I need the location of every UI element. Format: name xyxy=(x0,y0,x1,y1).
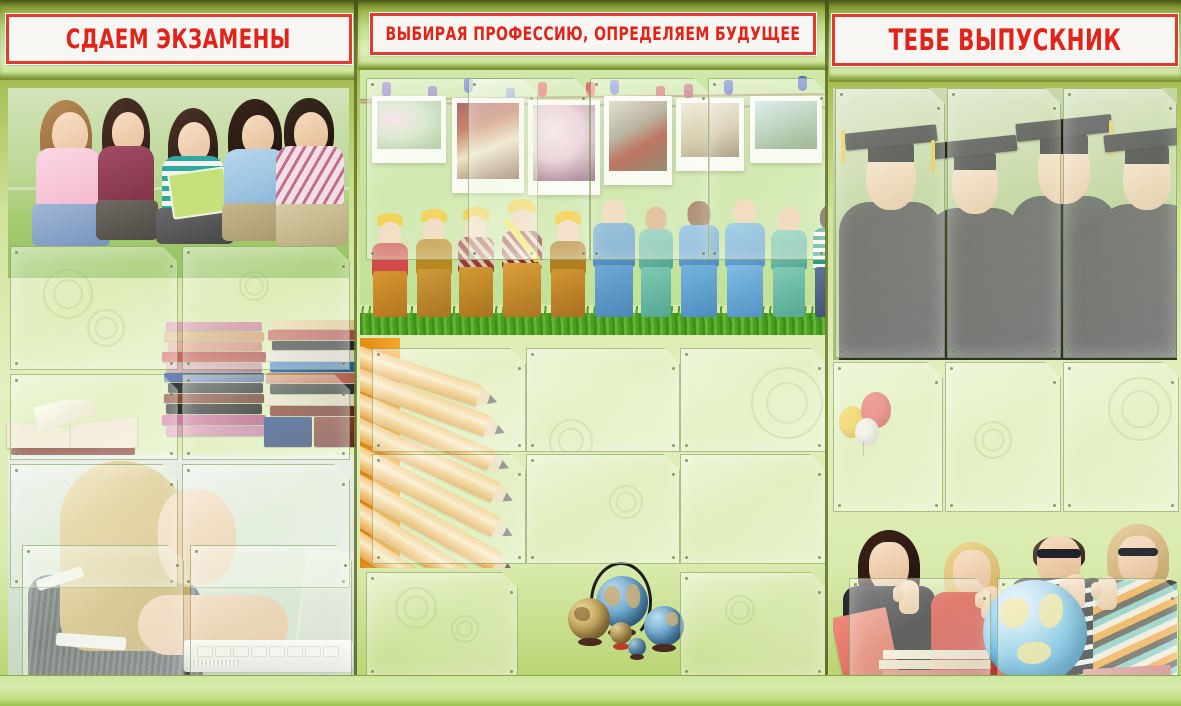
pocket-a4-1[interactable] xyxy=(372,348,526,452)
pocket-a4-5[interactable] xyxy=(526,454,680,564)
pocket-a4-5[interactable] xyxy=(22,545,184,695)
pocket-a4-4[interactable] xyxy=(372,454,526,564)
panel-right: ТЕБЕ ВЫПУСКНИК xyxy=(829,0,1181,706)
panel-left: СДАЕМ ЭКЗАМЕНЫ xyxy=(0,0,357,706)
panel-mid: ВЫБИРАЯ ПРОФЕССИЮ, ОПРЕДЕЛЯЕМ БУДУЩЕЕ xyxy=(358,0,828,706)
pocket-a5-lower-1[interactable] xyxy=(849,578,991,690)
pocket-a5-lower-2[interactable] xyxy=(997,578,1179,690)
pocket-a5-2[interactable] xyxy=(182,374,350,460)
board-bottom-sill xyxy=(0,675,1181,706)
panel-left-title-plate: СДАЕМ ЭКЗАМЕНЫ xyxy=(6,14,352,64)
pocket-gallery-2[interactable] xyxy=(468,78,590,260)
pocket-a4-3[interactable] xyxy=(1063,88,1177,358)
pocket-a4-6[interactable] xyxy=(190,545,352,695)
pocket-a4-3[interactable] xyxy=(680,348,826,452)
pocket-a4-4[interactable] xyxy=(833,362,943,512)
pocket-a4-1[interactable] xyxy=(10,246,178,370)
pocket-a4-6[interactable] xyxy=(680,454,826,564)
pocket-a5-1[interactable] xyxy=(366,572,518,678)
panel-right-header: ТЕБЕ ВЫПУСКНИК xyxy=(829,0,1181,82)
pocket-a5-1[interactable] xyxy=(10,374,178,460)
pocket-a4-2[interactable] xyxy=(526,348,680,452)
panel-right-title: ТЕБЕ ВЫПУСКНИК xyxy=(889,26,1122,55)
pocket-a4-2[interactable] xyxy=(947,88,1061,358)
pocket-a5-2[interactable] xyxy=(680,572,826,678)
panel-mid-title: ВЫБИРАЯ ПРОФЕССИЮ, ОПРЕДЕЛЯЕМ БУДУЩЕЕ xyxy=(386,25,801,44)
panel-mid-title-plate: ВЫБИРАЯ ПРОФЕССИЮ, ОПРЕДЕЛЯЕМ БУДУЩЕЕ xyxy=(370,13,816,55)
panel-mid-header: ВЫБИРАЯ ПРОФЕССИЮ, ОПРЕДЕЛЯЕМ БУДУЩЕЕ xyxy=(358,0,828,70)
pocket-a4-1[interactable] xyxy=(835,88,945,358)
pocket-a4-5[interactable] xyxy=(945,362,1061,512)
panel-left-title: СДАЕМ ЭКЗАМЕНЫ xyxy=(66,26,291,53)
pocket-gallery-3[interactable] xyxy=(590,78,710,260)
pocket-gallery-4[interactable] xyxy=(708,78,828,260)
pocket-a4-6[interactable] xyxy=(1063,362,1179,512)
information-stand-board: СДАЕМ ЭКЗАМЕНЫ xyxy=(0,0,1181,706)
pocket-a4-2[interactable] xyxy=(182,246,350,370)
panel-right-title-plate: ТЕБЕ ВЫПУСКНИК xyxy=(832,14,1178,66)
panel-left-header: СДАЕМ ЭКЗАМЕНЫ xyxy=(0,0,357,80)
